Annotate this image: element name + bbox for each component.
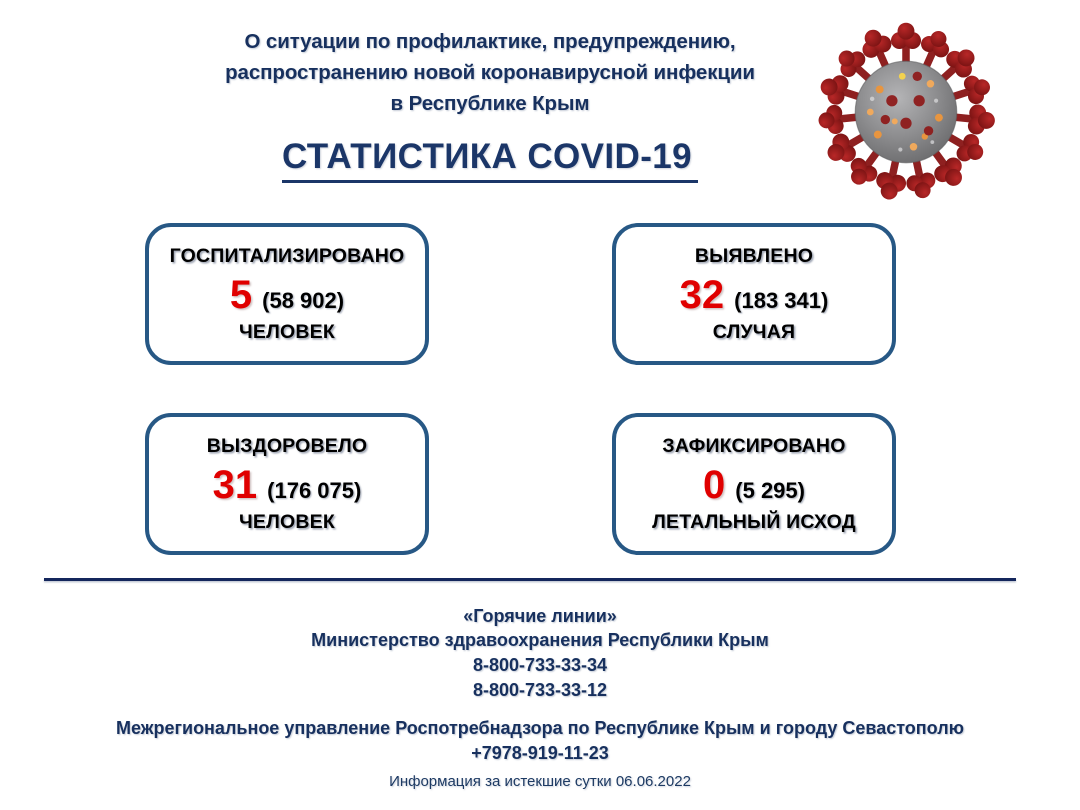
stat-card-recovered: ВЫЗДОРОВЕЛО 31 (176 075) ЧЕЛОВЕК bbox=[145, 413, 429, 555]
stat-card-label: ГОСПИТАЛИЗИРОВАНО bbox=[170, 245, 405, 268]
stat-card-detected: ВЫЯВЛЕНО 32 (183 341) СЛУЧАЯ bbox=[612, 223, 896, 365]
header-line-1: О ситуации по профилактике, предупрежден… bbox=[180, 26, 800, 57]
stat-daily-value: 32 bbox=[680, 275, 725, 315]
ministry-phone-1: 8-800-733-33-34 bbox=[0, 653, 1080, 678]
stat-daily-value: 31 bbox=[213, 465, 258, 505]
footer-contacts: «Горячие линии» Министерство здравоохран… bbox=[0, 604, 1080, 794]
info-date: Информация за истекшие сутки 06.06.2022 bbox=[0, 770, 1080, 794]
footer-spacer bbox=[0, 703, 1080, 715]
stat-card-label: ЗАФИКСИРОВАНО bbox=[662, 435, 845, 458]
stat-total-value: (5 295) bbox=[735, 480, 805, 502]
stat-card-label: ВЫЯВЛЕНО bbox=[695, 245, 813, 268]
page-title: СТАТИСТИКА COVID-19 bbox=[180, 137, 800, 183]
rospotrebnadzor-phone: +7978-919-11-23 bbox=[0, 741, 1080, 766]
hotline-title: «Горячие линии» bbox=[0, 604, 1080, 628]
header-subtitle-block: О ситуации по профилактике, предупрежден… bbox=[180, 26, 800, 119]
stat-card-numbers: 32 (183 341) bbox=[680, 275, 829, 315]
page-title-text: СТАТИСТИКА COVID-19 bbox=[282, 137, 698, 183]
stat-card-numbers: 5 (58 902) bbox=[230, 275, 344, 315]
stat-card-numbers: 0 (5 295) bbox=[703, 465, 805, 505]
stat-total-value: (58 902) bbox=[262, 290, 344, 312]
ministry-name: Министерство здравоохранения Республики … bbox=[0, 628, 1080, 653]
stat-card-numbers: 31 (176 075) bbox=[213, 465, 362, 505]
stat-daily-value: 5 bbox=[230, 275, 252, 315]
stat-card-unit: СЛУЧАЯ bbox=[713, 321, 795, 344]
ministry-phone-2: 8-800-733-33-12 bbox=[0, 678, 1080, 703]
stat-card-hospitalized: ГОСПИТАЛИЗИРОВАНО 5 (58 902) ЧЕЛОВЕК bbox=[145, 223, 429, 365]
stat-card-deaths: ЗАФИКСИРОВАНО 0 (5 295) ЛЕТАЛЬНЫЙ ИСХОД bbox=[612, 413, 896, 555]
stat-total-value: (176 075) bbox=[267, 480, 361, 502]
rospotrebnadzor-name: Межрегиональное управление Роспотребнадз… bbox=[0, 715, 1080, 741]
stat-card-unit: ЧЕЛОВЕК bbox=[239, 321, 335, 344]
stat-card-unit: ЛЕТАЛЬНЫЙ ИСХОД bbox=[652, 511, 856, 534]
coronavirus-icon bbox=[812, 16, 1000, 208]
stat-total-value: (183 341) bbox=[734, 290, 828, 312]
stat-daily-value: 0 bbox=[703, 465, 725, 505]
infographic-page: О ситуации по профилактике, предупрежден… bbox=[0, 0, 1080, 810]
stat-card-unit: ЧЕЛОВЕК bbox=[239, 511, 335, 534]
header-line-3: в Республике Крым bbox=[180, 88, 800, 119]
section-divider bbox=[44, 578, 1016, 581]
header-line-2: распространению новой коронавирусной инф… bbox=[180, 57, 800, 88]
stat-card-label: ВЫЗДОРОВЕЛО bbox=[207, 435, 368, 458]
